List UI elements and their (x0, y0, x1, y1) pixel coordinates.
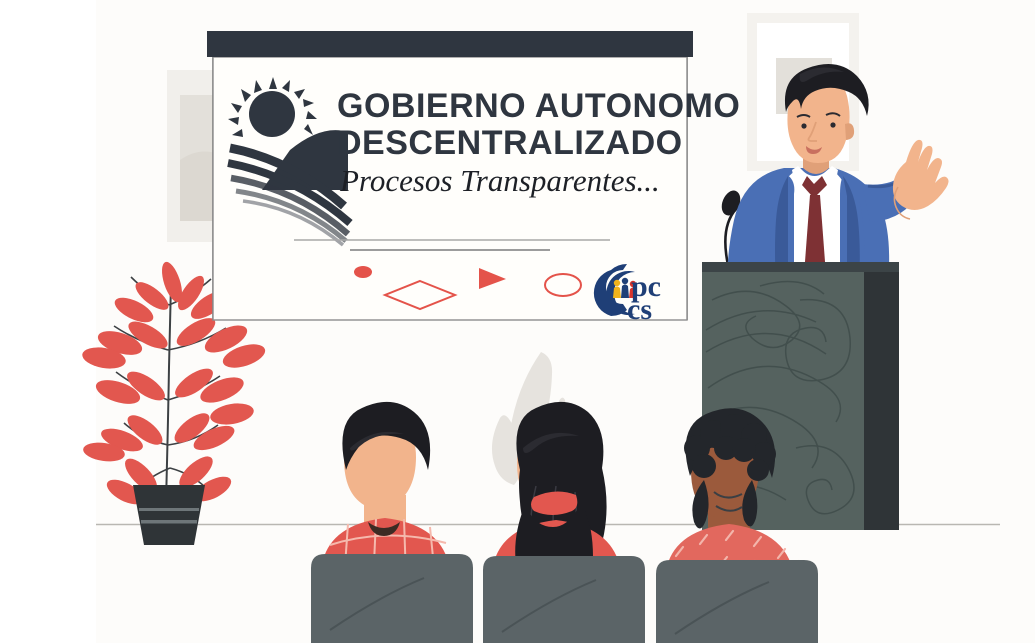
cpccs-text-bottom: cs (627, 293, 652, 326)
screen-top-bar (207, 31, 693, 57)
illustration-scene: GOBIERNO AUTONOMO DESCENTRALIZADO Proces… (0, 0, 1035, 643)
slide-title-line-2: DESCENTRALIZADO (337, 124, 683, 162)
filled-ellipse (354, 266, 372, 278)
plant-pot (133, 485, 205, 545)
slide-title-line-1: GOBIERNO AUTONOMO (337, 87, 740, 125)
slide-tagline: Procesos Transparentes... (339, 163, 660, 198)
